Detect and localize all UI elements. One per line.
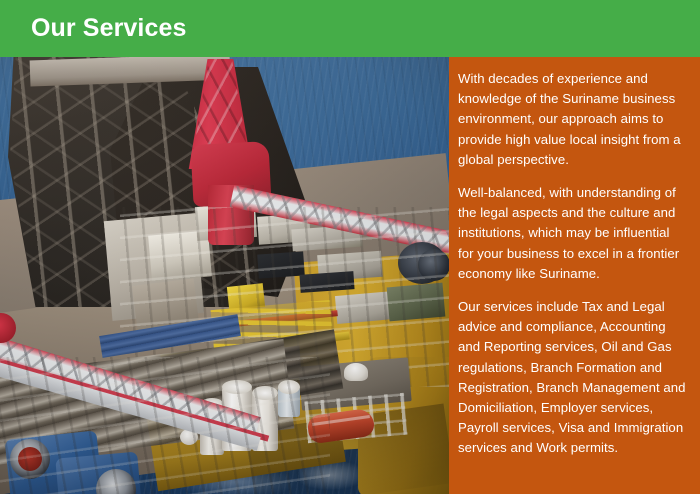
offshore-platform-photo — [0, 57, 449, 494]
page-title: Our Services — [31, 11, 186, 45]
lower-deck-railing-overlay — [0, 357, 330, 494]
services-page: Our Services — [0, 0, 700, 494]
services-text-body: With decades of experience and knowledge… — [458, 69, 686, 459]
services-text-panel: With decades of experience and knowledge… — [449, 57, 700, 494]
services-paragraph-3: Our services include Tax and Legal advic… — [458, 297, 686, 459]
services-paragraph-2: Well-balanced, with understanding of the… — [458, 183, 686, 284]
services-paragraph-1: With decades of experience and knowledge… — [458, 69, 686, 170]
page-header-band: Our Services — [0, 0, 700, 57]
radome-dome — [344, 363, 368, 381]
